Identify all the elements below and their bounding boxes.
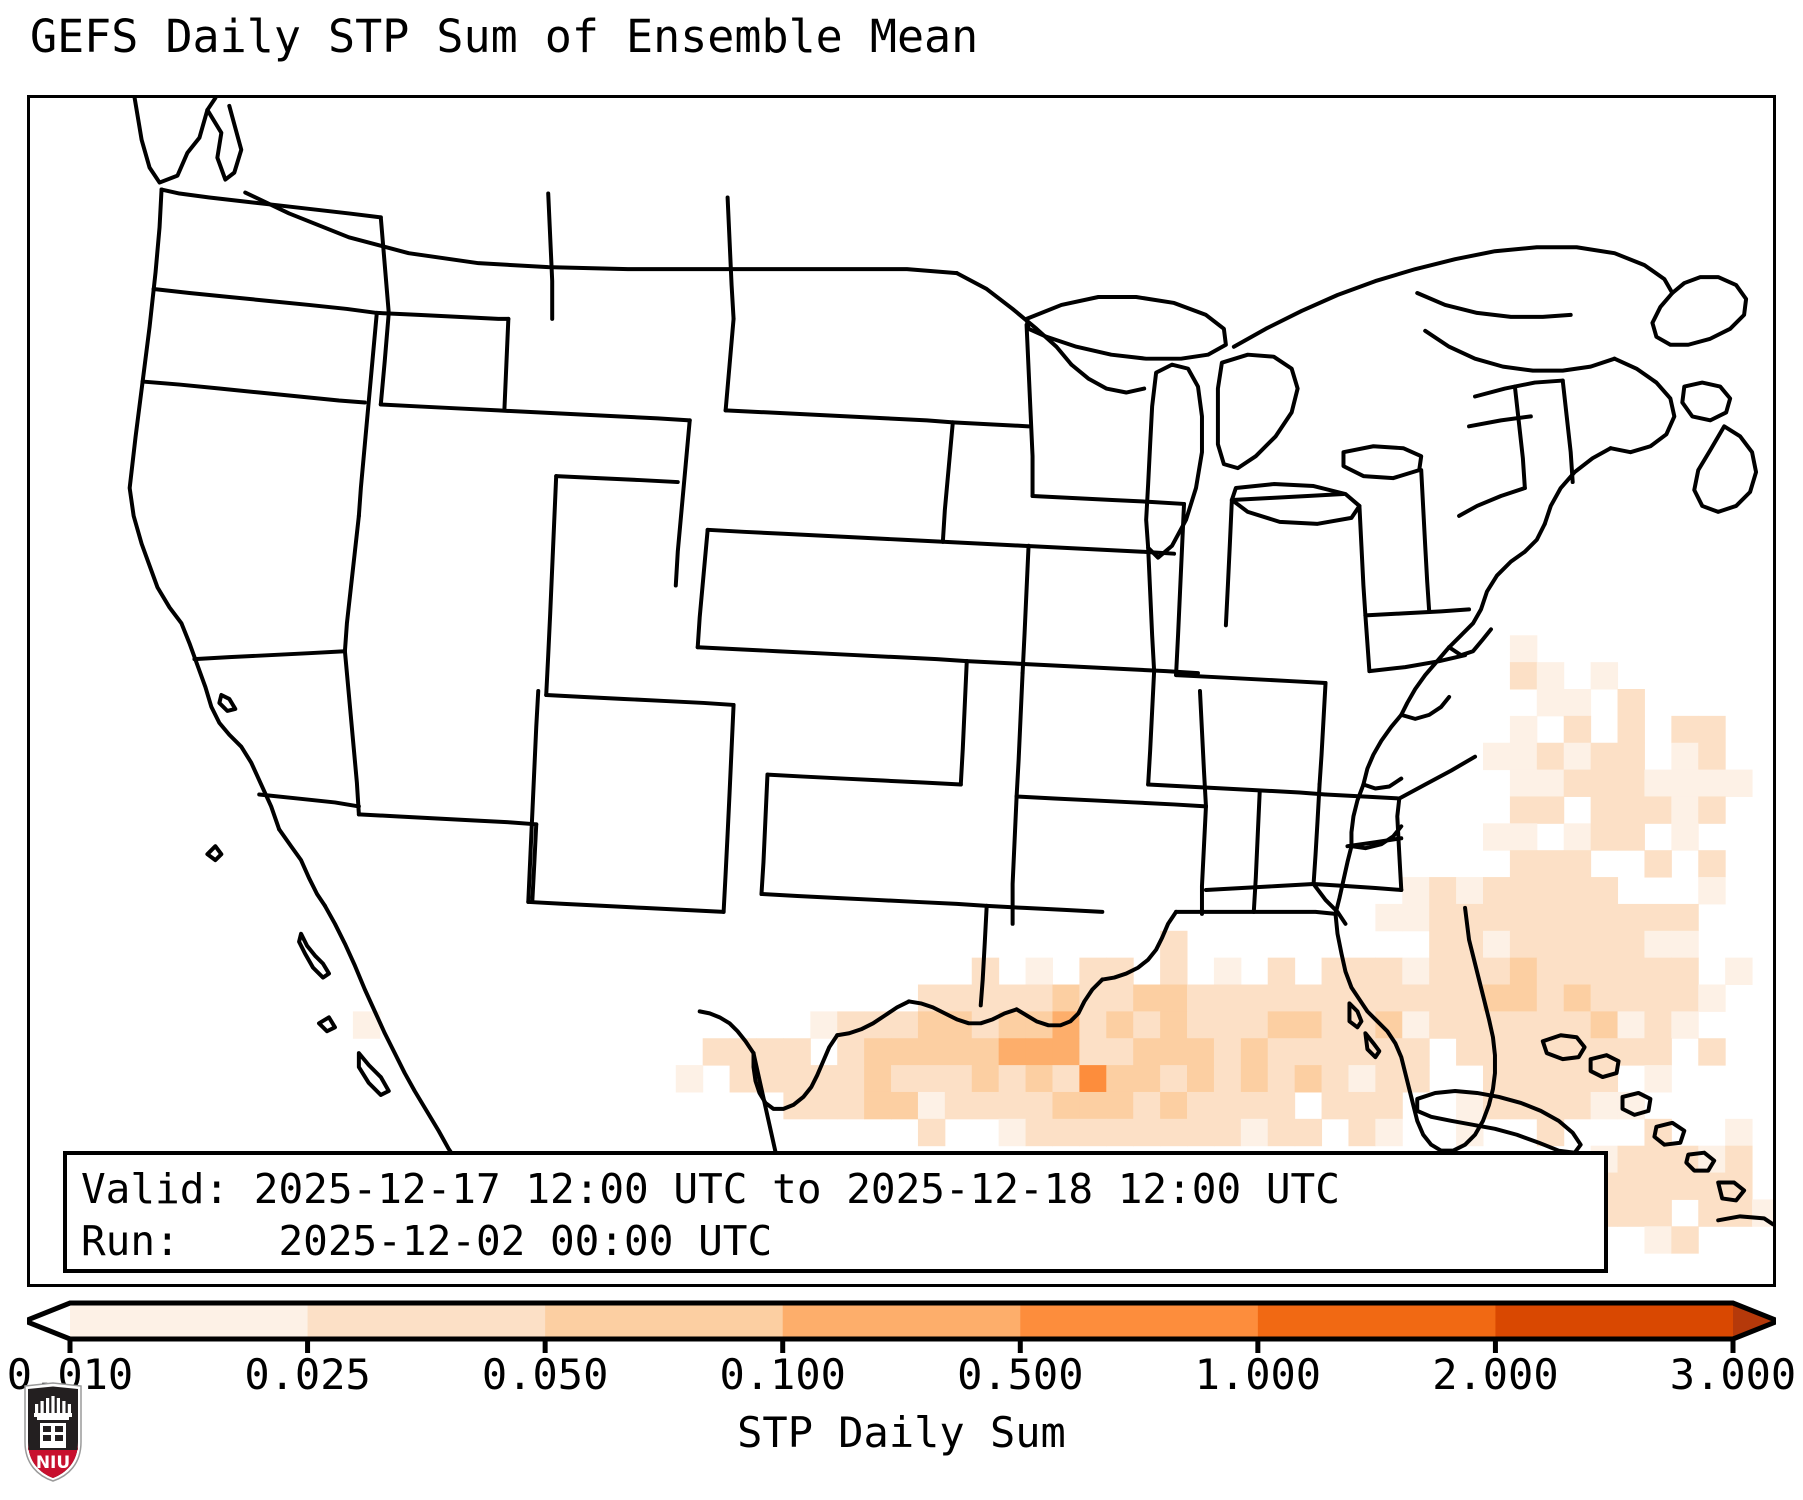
colorbar-tick-label-6: 2.000 bbox=[1432, 1352, 1558, 1398]
colorbar-segment-3 bbox=[783, 1303, 1021, 1339]
colorbar bbox=[27, 1295, 1776, 1353]
colorbar-over-arrow bbox=[1733, 1303, 1776, 1339]
colorbar-axis-label: STP Daily Sum bbox=[0, 1408, 1803, 1457]
colorbar-segment-1 bbox=[308, 1303, 546, 1339]
colorbar-segment-2 bbox=[545, 1303, 783, 1339]
colorbar-segments bbox=[70, 1303, 1734, 1339]
weather-map-figure: GEFS Daily STP Sum of Ensemble Mean bbox=[0, 0, 1803, 1500]
colorbar-segment-6 bbox=[1495, 1303, 1733, 1339]
colorbar-tick-label-5: 1.000 bbox=[1195, 1352, 1321, 1398]
colorbar-segment-0 bbox=[70, 1303, 308, 1339]
colorbar-tick-label-2: 0.050 bbox=[482, 1352, 608, 1398]
run-time-line: Run: 2025-12-02 00:00 UTC bbox=[81, 1215, 1604, 1267]
niu-logo-text: NIU bbox=[36, 1453, 70, 1473]
info-box: Valid: 2025-12-17 12:00 UTC to 2025-12-1… bbox=[63, 1151, 1608, 1273]
colorbar-under-arrow bbox=[27, 1303, 70, 1339]
geography-layer bbox=[30, 98, 1773, 1284]
colorbar-tick-label-1: 0.025 bbox=[244, 1352, 370, 1398]
colorbar-segment-5 bbox=[1258, 1303, 1496, 1339]
niu-logo: NIU bbox=[22, 1382, 84, 1482]
valid-time-line: Valid: 2025-12-17 12:00 UTC to 2025-12-1… bbox=[81, 1163, 1604, 1215]
colorbar-tick-label-7: 3.000 bbox=[1670, 1352, 1796, 1398]
colorbar-segment-4 bbox=[1020, 1303, 1258, 1339]
map-panel: Valid: 2025-12-17 12:00 UTC to 2025-12-1… bbox=[27, 95, 1776, 1287]
colorbar-tick-labels: 0.0100.0250.0500.1000.5001.0002.0003.000 bbox=[27, 1352, 1776, 1404]
colorbar-tick-label-3: 0.100 bbox=[719, 1352, 845, 1398]
map-canvas bbox=[30, 98, 1773, 1284]
colorbar-tick-label-4: 0.500 bbox=[957, 1352, 1083, 1398]
figure-title: GEFS Daily STP Sum of Ensemble Mean bbox=[30, 14, 978, 59]
